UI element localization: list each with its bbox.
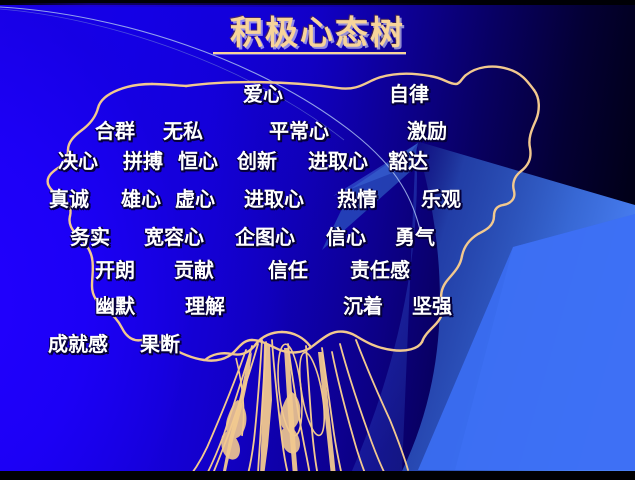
keyword-label: 务实 [70, 226, 110, 248]
word-row: 幽默理解沉着坚强 [95, 295, 452, 317]
keyword-label: 沉着 [343, 295, 383, 317]
word-row: 成就感果断 [48, 333, 180, 355]
keyword-label: 拼搏 [123, 150, 163, 172]
keyword-label: 虚心 [175, 188, 215, 210]
keyword-label: 责任感 [350, 259, 410, 281]
word-row: 合群无私平常心激励 [95, 120, 447, 142]
keyword-label: 勇气 [395, 226, 435, 248]
word-row: 真诚雄心虚心进取心热情乐观 [49, 188, 461, 210]
keyword-label: 信心 [326, 226, 366, 248]
bottom-black-bar [0, 471, 635, 480]
keyword-label: 热情 [337, 188, 377, 210]
keyword-label: 恒心 [178, 150, 218, 172]
word-row: 决心拼搏恒心创新进取心豁达 [58, 150, 428, 172]
keyword-label: 开朗 [95, 259, 135, 281]
keyword-label: 豁达 [388, 150, 428, 172]
keyword-label: 进取心 [308, 150, 368, 172]
keyword-label: 创新 [237, 150, 277, 172]
keyword-label: 乐观 [421, 188, 461, 210]
keyword-label: 真诚 [49, 188, 89, 210]
word-row: 开朗贡献信任责任感 [95, 259, 410, 281]
presentation-slide: 积极心态树 爱心自律 合群无私平常心激励 决心拼搏恒心创新进取心豁达 真诚雄心虚… [0, 0, 635, 480]
page-title: 积极心态树 [0, 14, 635, 52]
keyword-label: 合群 [95, 120, 135, 142]
keyword-label: 坚强 [412, 295, 452, 317]
keyword-label: 决心 [58, 150, 98, 172]
keyword-label: 企图心 [235, 226, 295, 248]
title-underline [213, 52, 406, 54]
keyword-label: 进取心 [244, 188, 304, 210]
word-row: 爱心自律 [243, 83, 429, 105]
word-row: 务实宽容心企图心信心勇气 [70, 226, 435, 248]
keyword-label: 果断 [140, 333, 180, 355]
keyword-label: 成就感 [48, 333, 108, 355]
keyword-label: 激励 [407, 120, 447, 142]
keyword-label: 贡献 [174, 259, 214, 281]
keyword-label: 爱心 [243, 83, 283, 105]
top-bar-sheen [0, 3, 635, 7]
keyword-label: 信任 [268, 259, 308, 281]
keyword-label: 幽默 [95, 295, 135, 317]
keyword-label: 理解 [185, 295, 225, 317]
keyword-label: 无私 [163, 120, 203, 142]
keyword-label: 宽容心 [144, 226, 204, 248]
keyword-label: 雄心 [121, 188, 161, 210]
keyword-label: 自律 [389, 83, 429, 105]
keyword-label: 平常心 [269, 120, 329, 142]
